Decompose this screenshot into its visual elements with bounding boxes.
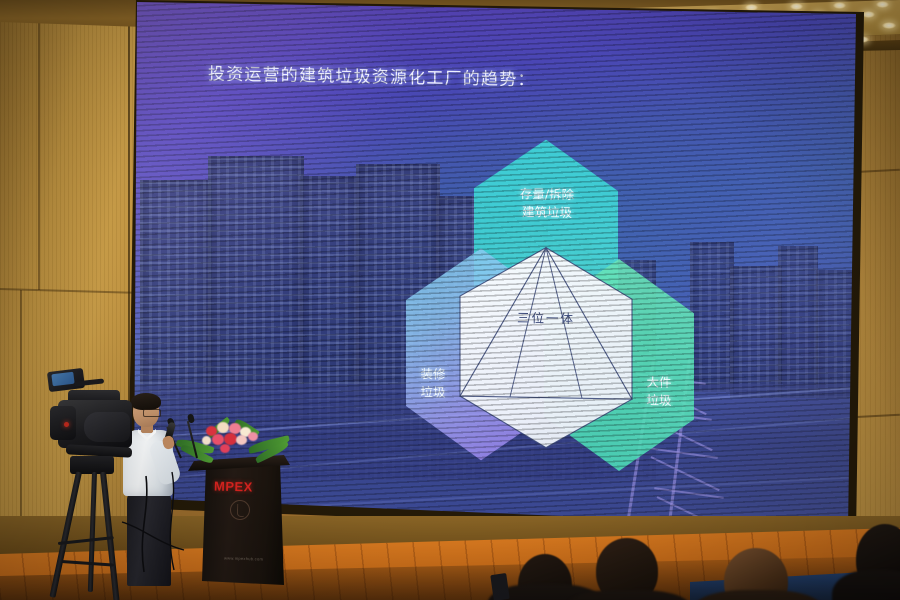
hex-label-right: 大件垃圾 bbox=[628, 373, 690, 410]
video-camera-rig bbox=[40, 360, 170, 600]
audience-phone bbox=[490, 573, 509, 600]
hex-center-label: 三位一体 bbox=[496, 307, 596, 328]
slide-title: 投资运营的建筑垃圾资源化工厂的趋势： bbox=[208, 59, 536, 90]
hex-label-right-line1: 大件 bbox=[646, 374, 671, 389]
hex-label-left-line2: 垃圾 bbox=[420, 384, 445, 399]
camera-lens-hood bbox=[50, 406, 76, 440]
camera-shoulder-pad bbox=[84, 412, 130, 442]
hex-center-triangle-lines bbox=[460, 246, 632, 449]
hex-label-top-line1: 存量/拆除 bbox=[520, 186, 574, 202]
hex-label-top-line2: 建筑垃圾 bbox=[522, 204, 572, 220]
hexagon-venn-diagram: 存量/拆除建筑垃圾 装修垃圾 大件垃圾 三位一体 bbox=[396, 137, 696, 523]
camera-record-indicator bbox=[64, 422, 69, 427]
hex-label-left-line1: 装修 bbox=[420, 366, 445, 381]
hex-label-right-line2: 垃圾 bbox=[646, 393, 671, 408]
tripod-leg bbox=[88, 472, 97, 592]
hex-label-left: 装修垃圾 bbox=[402, 365, 464, 402]
conference-photo: 投资运营的建筑垃圾资源化工厂的趋势： 存量/拆除建筑垃圾 装修垃圾 大件垃圾 三… bbox=[0, 0, 900, 600]
hex-label-top: 存量/拆除建筑垃圾 bbox=[492, 185, 602, 223]
tripod-leg bbox=[49, 471, 81, 597]
